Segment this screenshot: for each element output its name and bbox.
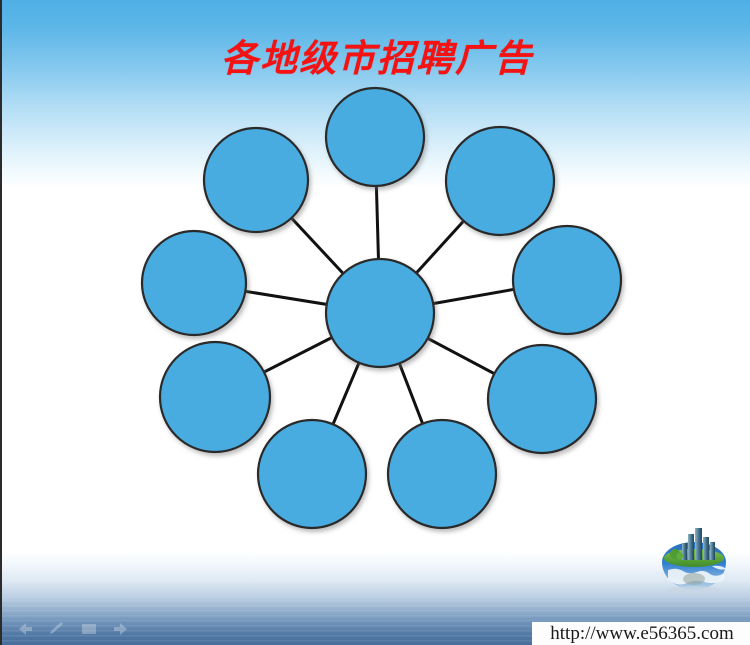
node-lower-right[interactable]	[488, 345, 596, 453]
node-upper-left[interactable]	[204, 128, 308, 232]
arrow-left-icon[interactable]	[16, 622, 34, 636]
slide-icon[interactable]	[80, 622, 98, 636]
node-mid-right[interactable]	[513, 226, 621, 334]
diagram-nodes	[142, 88, 621, 528]
center-node[interactable]	[326, 259, 434, 367]
presentation-slide: 各地级市招聘广告	[0, 0, 750, 645]
presentation-controls[interactable]	[16, 622, 130, 636]
node-bottom-right[interactable]	[388, 420, 496, 528]
site-url-watermark: http://www.e56365.com	[532, 622, 750, 645]
pen-icon[interactable]	[48, 622, 66, 636]
globe-city-logo	[650, 524, 738, 596]
node-top[interactable]	[326, 88, 424, 186]
node-mid-left[interactable]	[142, 231, 246, 335]
arrow-right-icon[interactable]	[112, 622, 130, 636]
hub-and-spoke-diagram	[2, 0, 750, 645]
node-upper-right[interactable]	[446, 127, 554, 235]
node-lower-left[interactable]	[160, 342, 270, 452]
node-bottom-left[interactable]	[258, 420, 366, 528]
